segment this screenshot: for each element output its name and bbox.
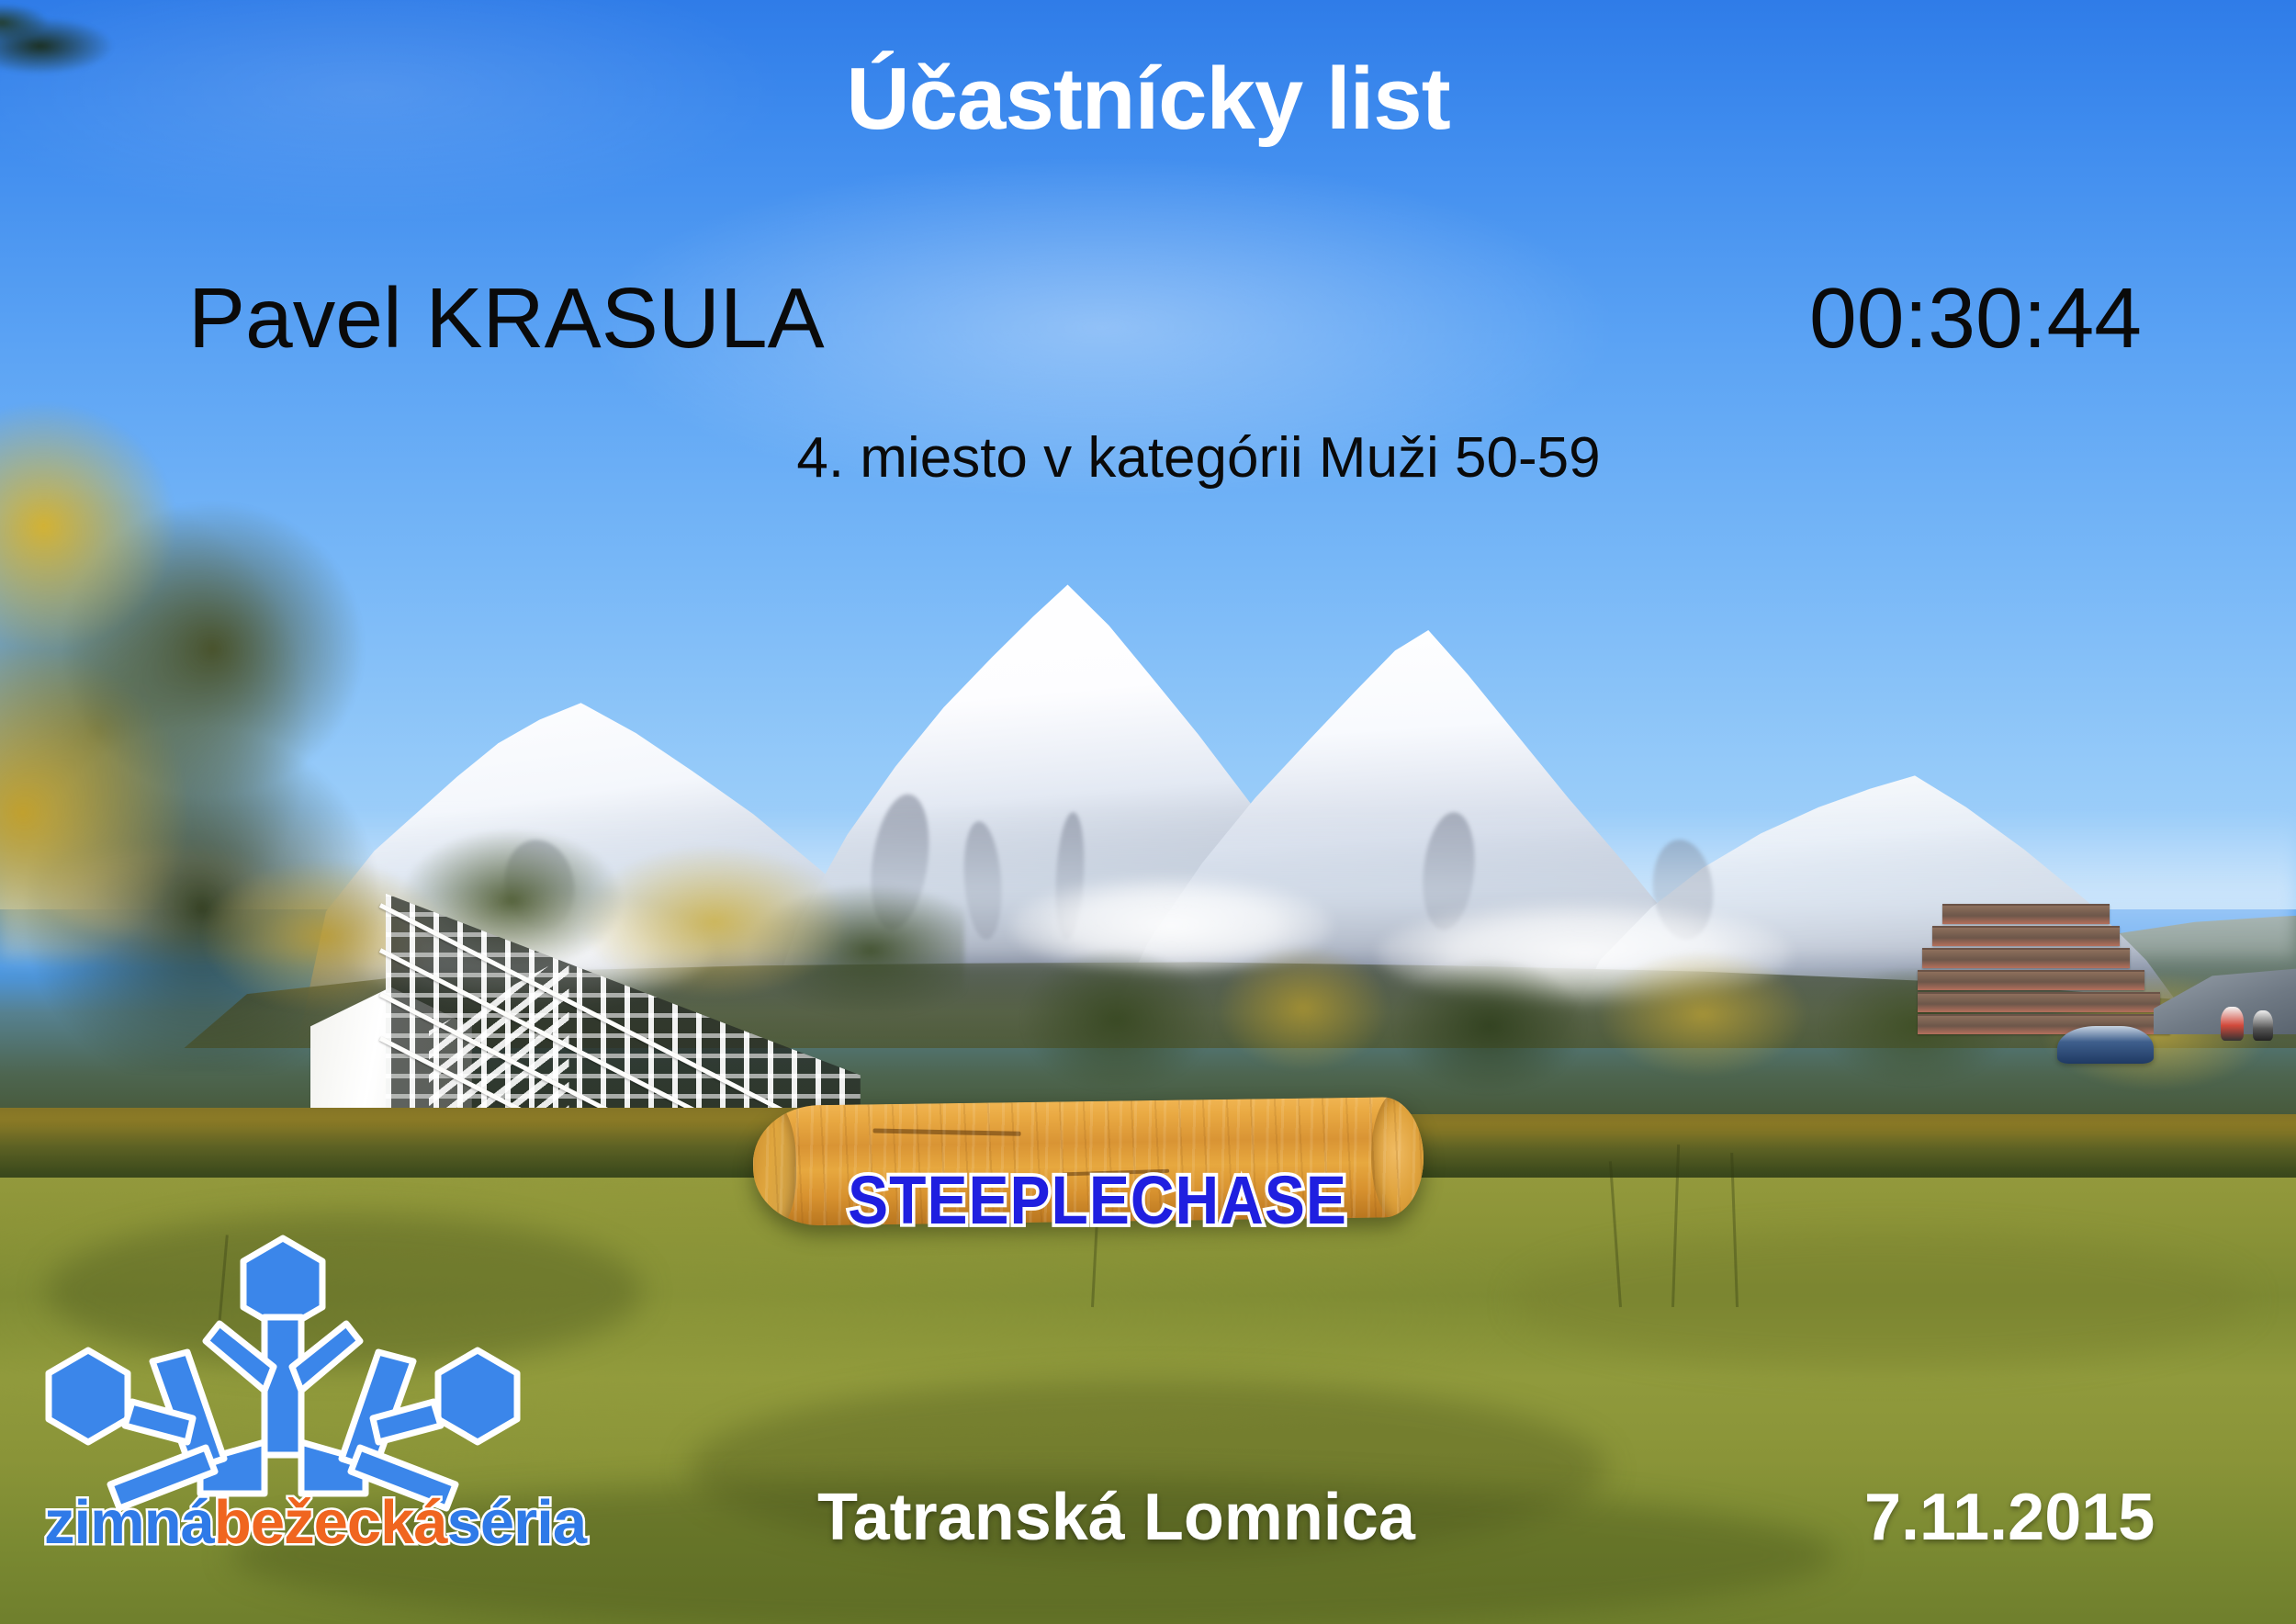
obstacle-label-text: STEEPLECHASE: [848, 1160, 1347, 1238]
logo-word-zimna: zimná: [44, 1488, 214, 1557]
series-logo-text: zimnábežeckáséria: [44, 1492, 522, 1553]
series-logo: zimnábežeckáséria: [44, 1229, 522, 1596]
parked-car: [2057, 1026, 2154, 1064]
logo-word-bezecka: bežecká: [214, 1488, 447, 1557]
finish-time: 00:30:44: [1809, 276, 2142, 361]
log-crack: [873, 1128, 1021, 1135]
grandstand-structure: [310, 852, 850, 1145]
grass-shadow: [1515, 1232, 2250, 1369]
person-figure: [2253, 1010, 2274, 1042]
logo-word-seria: séria: [447, 1488, 586, 1557]
category-result-text: 4. miesto v kategórii Muži 50-59: [796, 430, 1600, 487]
athlete-name: Pavel KRASULA: [188, 276, 825, 361]
grandstand-railings: [380, 894, 861, 1139]
terraced-hotel-building: [1918, 901, 2170, 1039]
participant-certificate-poster: Účastnícky list Pavel KRASULA 00:30:44 4…: [0, 0, 2296, 1624]
person-figure: [2221, 1007, 2244, 1041]
venue-name: Tatranská Lomnica: [817, 1484, 1415, 1551]
category-result: 4. miesto v kategórii Muži 50-59: [0, 430, 2296, 487]
event-date: 7.11.2015: [1864, 1484, 2155, 1551]
obstacle-label: STEEPLECHASE: [0, 1165, 2296, 1235]
page-title: Účastnícky list: [0, 53, 2296, 146]
